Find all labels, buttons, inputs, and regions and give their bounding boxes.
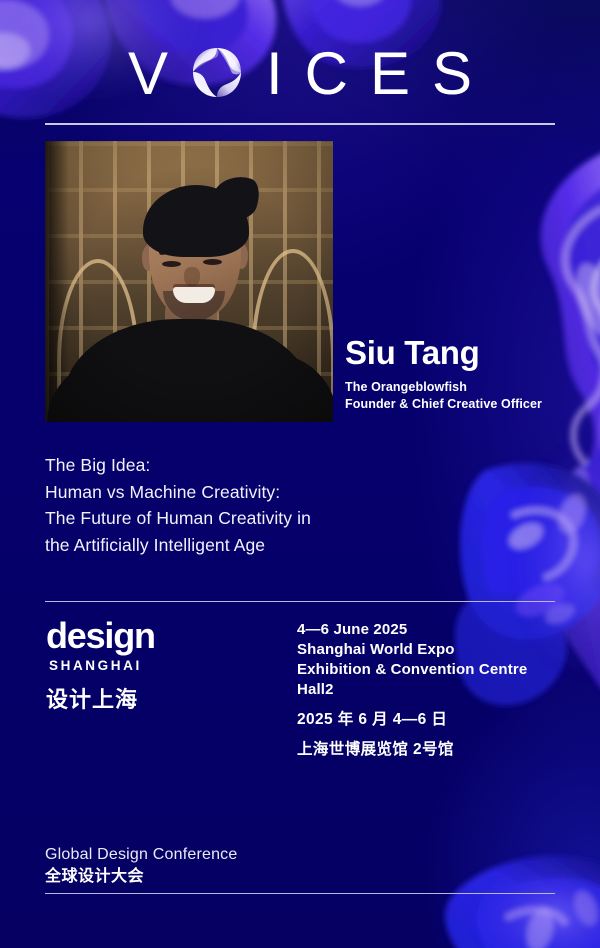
voices-wordmark: V [0, 38, 600, 110]
event-details: 4—6 June 2025 Shanghai World Expo Exhibi… [297, 620, 557, 761]
event-venue-line-1: Shanghai World Expo [297, 640, 557, 660]
logo-shanghai-word: SHANGHAI [49, 659, 266, 673]
photo-vignette [45, 141, 333, 422]
speaker-organisation: The Orangeblowfish [345, 379, 565, 397]
footer-title-cn: 全球设计大会 [45, 867, 365, 887]
event-dates-cn: 2025 年 6 月 4—6 日 [297, 709, 557, 730]
voices-letter-c: C [305, 44, 348, 104]
conference-footer: Global Design Conference 全球设计大会 [45, 845, 365, 886]
event-venue-cn: 上海世博展览馆 2号馆 [297, 739, 557, 760]
talk-title-line-2: Human vs Machine Creativity: [45, 479, 375, 506]
design-shanghai-logo: design SHANGHAI 设计上海 [46, 618, 266, 711]
speaker-name: Siu Tang [345, 336, 565, 371]
talk-title-line-3: The Future of Human Creativity in [45, 505, 375, 532]
event-venue-line-2: Exhibition & Convention Centre [297, 660, 557, 680]
logo-shanghai-chinese: 设计上海 [46, 689, 266, 711]
logo-design-word: design [46, 618, 266, 654]
voices-letter-s: S [432, 44, 472, 104]
voices-speaker-poster: V [0, 0, 600, 948]
voices-letter-e: E [370, 44, 410, 104]
voices-letter-v: V [128, 44, 168, 104]
voices-letter-o-icon [190, 45, 244, 103]
talk-title-line-4: the Artificially Intelligent Age [45, 532, 375, 559]
voices-letter-i: I [266, 44, 283, 104]
event-dates-en: 4—6 June 2025 [297, 620, 557, 640]
event-venue-line-3: Hall2 [297, 680, 557, 700]
speaker-photo [45, 141, 333, 422]
speaker-details: Siu Tang The Orangeblowfish Founder & Ch… [345, 336, 565, 414]
talk-title: The Big Idea: Human vs Machine Creativit… [45, 452, 375, 558]
divider-top [45, 123, 555, 125]
talk-title-line-1: The Big Idea: [45, 452, 375, 479]
divider-middle [45, 601, 555, 602]
footer-title-en: Global Design Conference [45, 845, 365, 865]
divider-bottom [45, 893, 555, 894]
speaker-role: Founder & Chief Creative Officer [345, 396, 565, 414]
